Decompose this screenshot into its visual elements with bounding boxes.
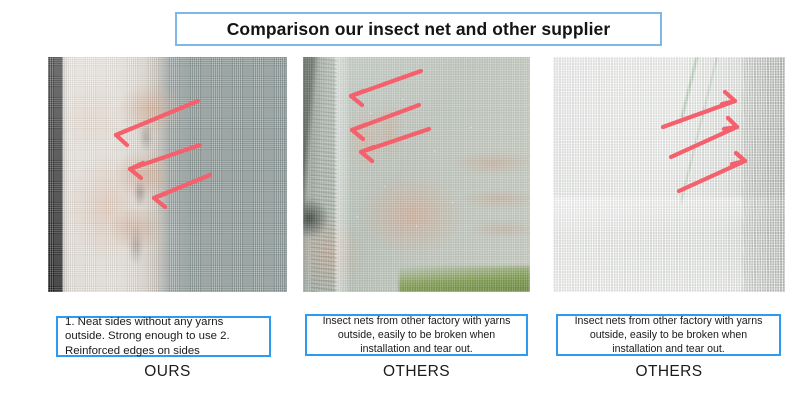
caption-text: Insect nets from other factory with yarn…	[314, 314, 519, 356]
comparison-slide: Comparison our insect net and other supp…	[0, 0, 800, 400]
slide-title: Comparison our insect net and other supp…	[227, 19, 611, 40]
panel-label-others-1: OTHERS	[303, 363, 530, 385]
caption-text: 1. Neat sides without any yarns outside.…	[65, 315, 262, 358]
panel-label-others-2: OTHERS	[553, 363, 785, 385]
annotation-arrows-up-right	[553, 57, 785, 292]
annotation-arrows-left	[303, 57, 530, 292]
caption-text: Insect nets from other factory with yarn…	[565, 314, 772, 356]
caption-box-others-1: Insect nets from other factory with yarn…	[305, 314, 528, 356]
caption-box-others-2: Insect nets from other factory with yarn…	[556, 314, 781, 356]
slide-title-box: Comparison our insect net and other supp…	[175, 12, 662, 46]
photo-ours	[48, 57, 287, 292]
caption-box-ours: 1. Neat sides without any yarns outside.…	[56, 316, 271, 357]
panel-label-ours: OURS	[48, 363, 287, 385]
photo-others-1	[303, 57, 530, 292]
annotation-arrows-left	[48, 57, 287, 292]
photo-others-2	[553, 57, 785, 292]
